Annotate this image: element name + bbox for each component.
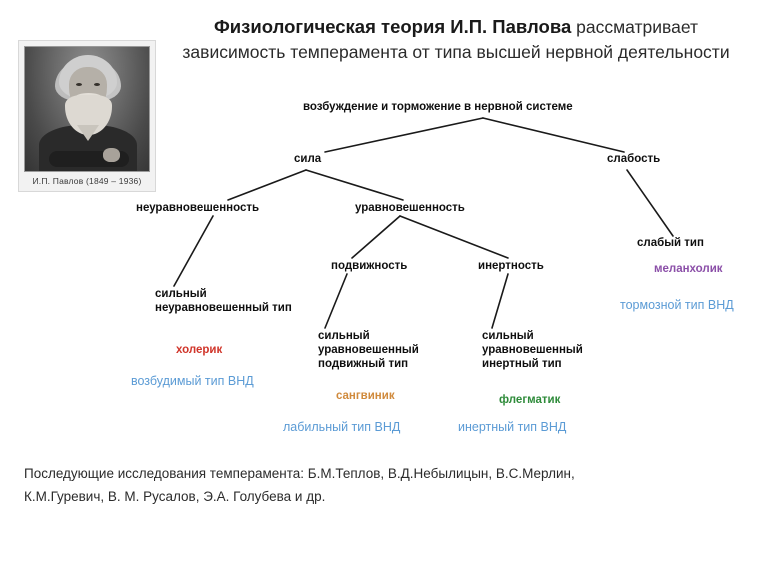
footer-note: Последующие исследования темперамента: Б… bbox=[24, 462, 744, 508]
temperament-choleric: холерик bbox=[176, 343, 222, 357]
vnd-inhibitory: тормозной тип ВНД bbox=[620, 298, 734, 313]
node-mobility: подвижность bbox=[331, 259, 407, 273]
node-strength: сила bbox=[294, 152, 321, 166]
slide-canvas: Физиологическая теория И.П. Павлова расс… bbox=[0, 0, 768, 576]
node-inertness: инертность bbox=[478, 259, 544, 273]
node-root: возбуждение и торможение в нервной систе… bbox=[303, 100, 573, 114]
vnd-excitable: возбудимый тип ВНД bbox=[131, 374, 254, 389]
node-weakness: слабость bbox=[607, 152, 660, 166]
temperament-phlegmatic: флегматик bbox=[499, 393, 560, 407]
leaf-weak: слабый тип bbox=[637, 236, 704, 250]
vnd-inert: инертный тип ВНД bbox=[458, 420, 566, 435]
vnd-labile: лабильный тип ВНД bbox=[283, 420, 400, 435]
node-unbalanced: неуравновешенность bbox=[136, 201, 259, 215]
leaf-strong-balanced-inert: сильный уравновешенный инертный тип bbox=[482, 329, 604, 371]
footer-line-1: Последующие исследования темперамента: Б… bbox=[24, 462, 744, 485]
footer-line-2: К.М.Гуревич, В. М. Русалов, Э.А. Голубев… bbox=[24, 485, 744, 508]
temperament-sanguine: сангвиник bbox=[336, 389, 395, 403]
leaf-strong-balanced-mobile: сильный уравновешенный подвижный тип bbox=[318, 329, 452, 371]
temperament-melancholic: меланхолик bbox=[654, 262, 723, 276]
node-balanced: уравновешенность bbox=[355, 201, 465, 215]
leaf-strong-unbalanced: сильный неуравновешенный тип bbox=[155, 287, 295, 315]
